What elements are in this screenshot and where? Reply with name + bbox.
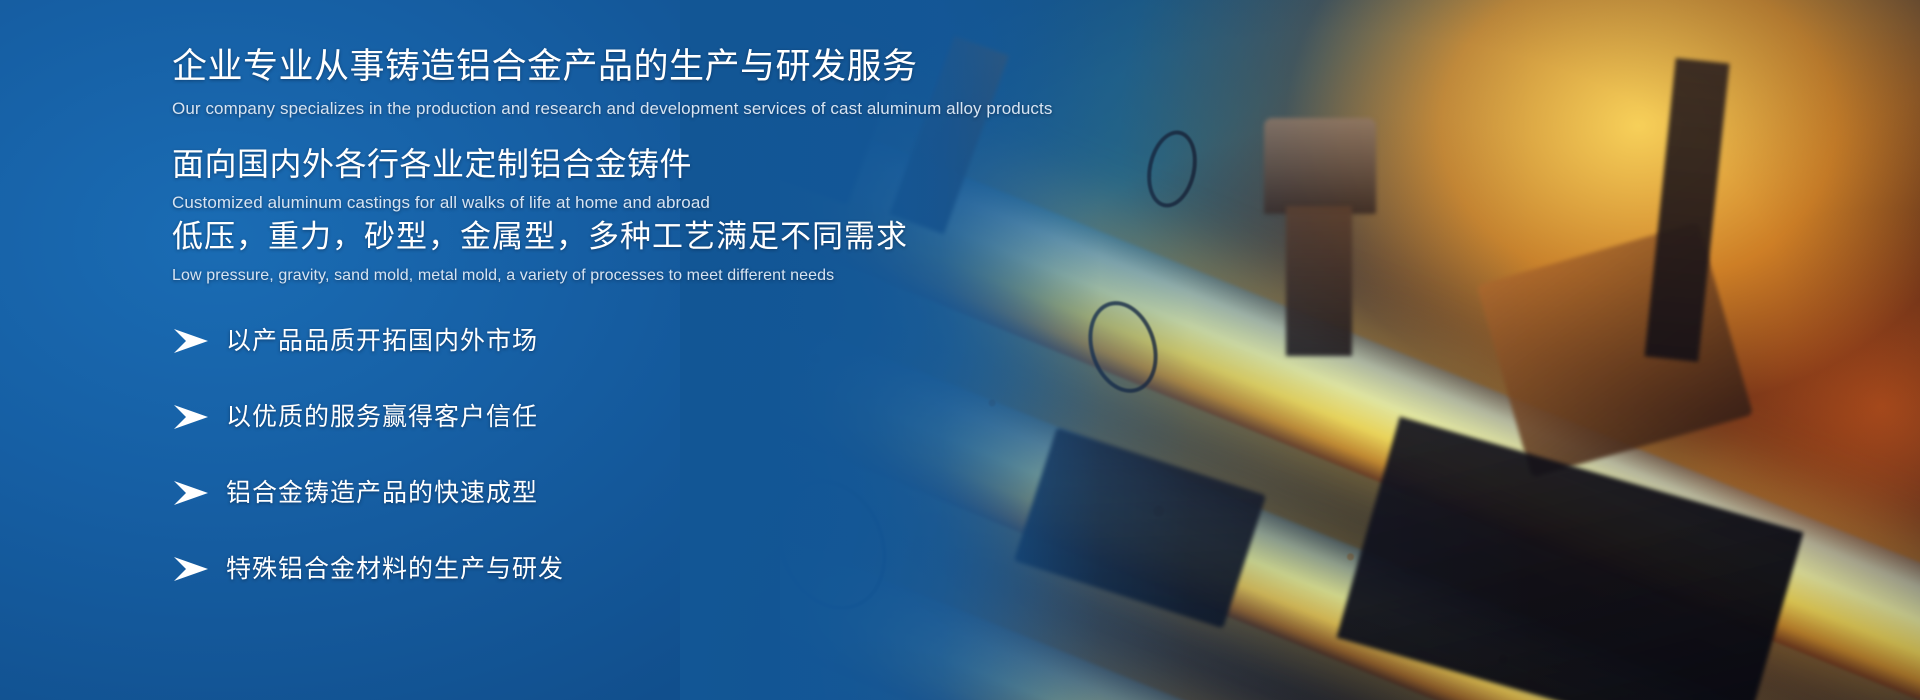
bullet-label: 以产品品质开拓国内外市场 xyxy=(226,325,538,357)
headline-block-1: 企业专业从事铸造铝合金产品的生产与研发服务 Our company specia… xyxy=(172,44,1052,124)
arrow-right-icon xyxy=(172,404,210,430)
bullet-label: 特殊铝合金材料的生产与研发 xyxy=(226,553,564,585)
list-item: 铝合金铸造产品的快速成型 xyxy=(172,464,932,522)
headline-1-cn: 企业专业从事铸造铝合金产品的生产与研发服务 xyxy=(172,44,1052,90)
headline-3-cn: 低压，重力，砂型，金属型，多种工艺满足不同需求 xyxy=(172,215,908,259)
list-item: 以产品品质开拓国内外市场 xyxy=(172,312,932,370)
arrow-right-icon xyxy=(172,556,210,582)
list-item: 特殊铝合金材料的生产与研发 xyxy=(172,540,932,598)
headline-3-en: Low pressure, gravity, sand mold, metal … xyxy=(172,262,908,290)
bullet-label: 铝合金铸造产品的快速成型 xyxy=(226,477,538,509)
promo-banner: 企业专业从事铸造铝合金产品的生产与研发服务 Our company specia… xyxy=(0,0,1920,700)
headline-2-en: Customized aluminum castings for all wal… xyxy=(172,189,710,217)
headline-block-2: 面向国内外各行各业定制铝合金铸件 Customized aluminum cas… xyxy=(172,142,710,217)
bullet-label: 以优质的服务赢得客户信任 xyxy=(226,401,538,433)
list-item: 以优质的服务赢得客户信任 xyxy=(172,388,932,446)
arrow-right-icon xyxy=(172,328,210,354)
headline-block-3: 低压，重力，砂型，金属型，多种工艺满足不同需求 Low pressure, gr… xyxy=(172,215,908,290)
headline-1-en: Our company specializes in the productio… xyxy=(172,94,1052,124)
feature-bullet-list: 以产品品质开拓国内外市场 以优质的服务赢得客户信任 铝合金铸造产品的快速成型 特… xyxy=(172,312,932,616)
banner-content: 企业专业从事铸造铝合金产品的生产与研发服务 Our company specia… xyxy=(172,0,1292,700)
headline-2-cn: 面向国内外各行各业定制铝合金铸件 xyxy=(172,142,710,186)
arrow-right-icon xyxy=(172,480,210,506)
